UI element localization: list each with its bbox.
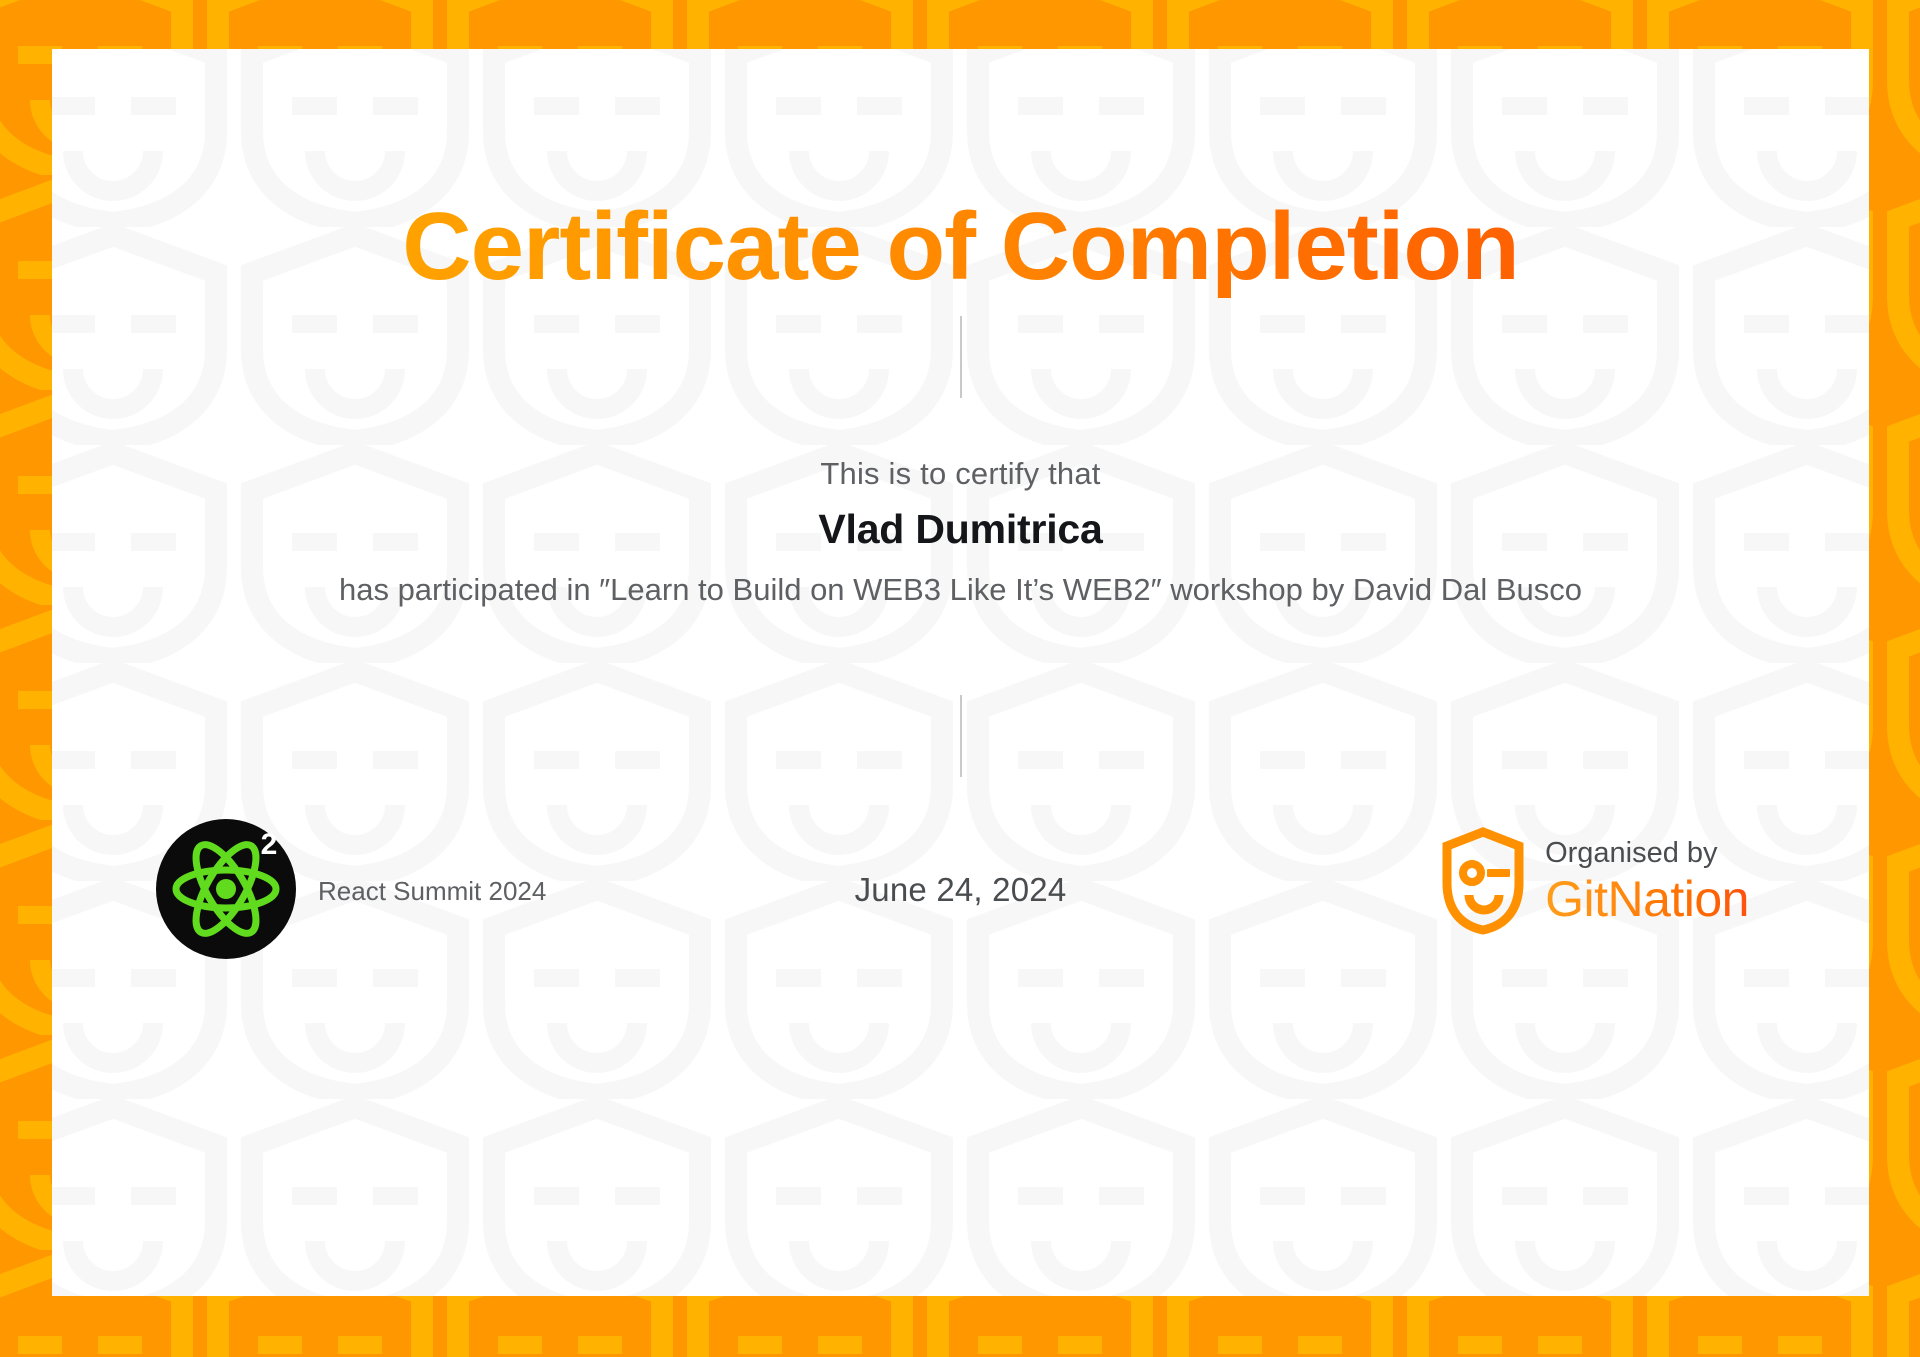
organiser-block: Organised by GitNation [1441, 827, 1749, 935]
organiser-name: GitNation [1545, 874, 1749, 924]
certificate-title: Certificate of Completion [52, 197, 1869, 298]
participation-description: has participated in ″Learn to Build on W… [212, 569, 1709, 610]
certificate-footer: 2 React Summit 2024 June 24, 2024 [52, 819, 1869, 979]
divider-top [960, 316, 962, 398]
recipient-name: Vlad Dumitrica [52, 506, 1869, 553]
svg-text:2: 2 [261, 828, 278, 861]
certificate-card: Certificate of Completion This is to cer… [52, 49, 1869, 1296]
organised-by-label: Organised by [1545, 839, 1749, 868]
certify-statement: This is to certify that [52, 456, 1869, 492]
certificate-page: Certificate of Completion This is to cer… [0, 0, 1920, 1357]
gitnation-shield-mask-icon [1441, 827, 1525, 935]
divider-bottom [960, 695, 962, 777]
